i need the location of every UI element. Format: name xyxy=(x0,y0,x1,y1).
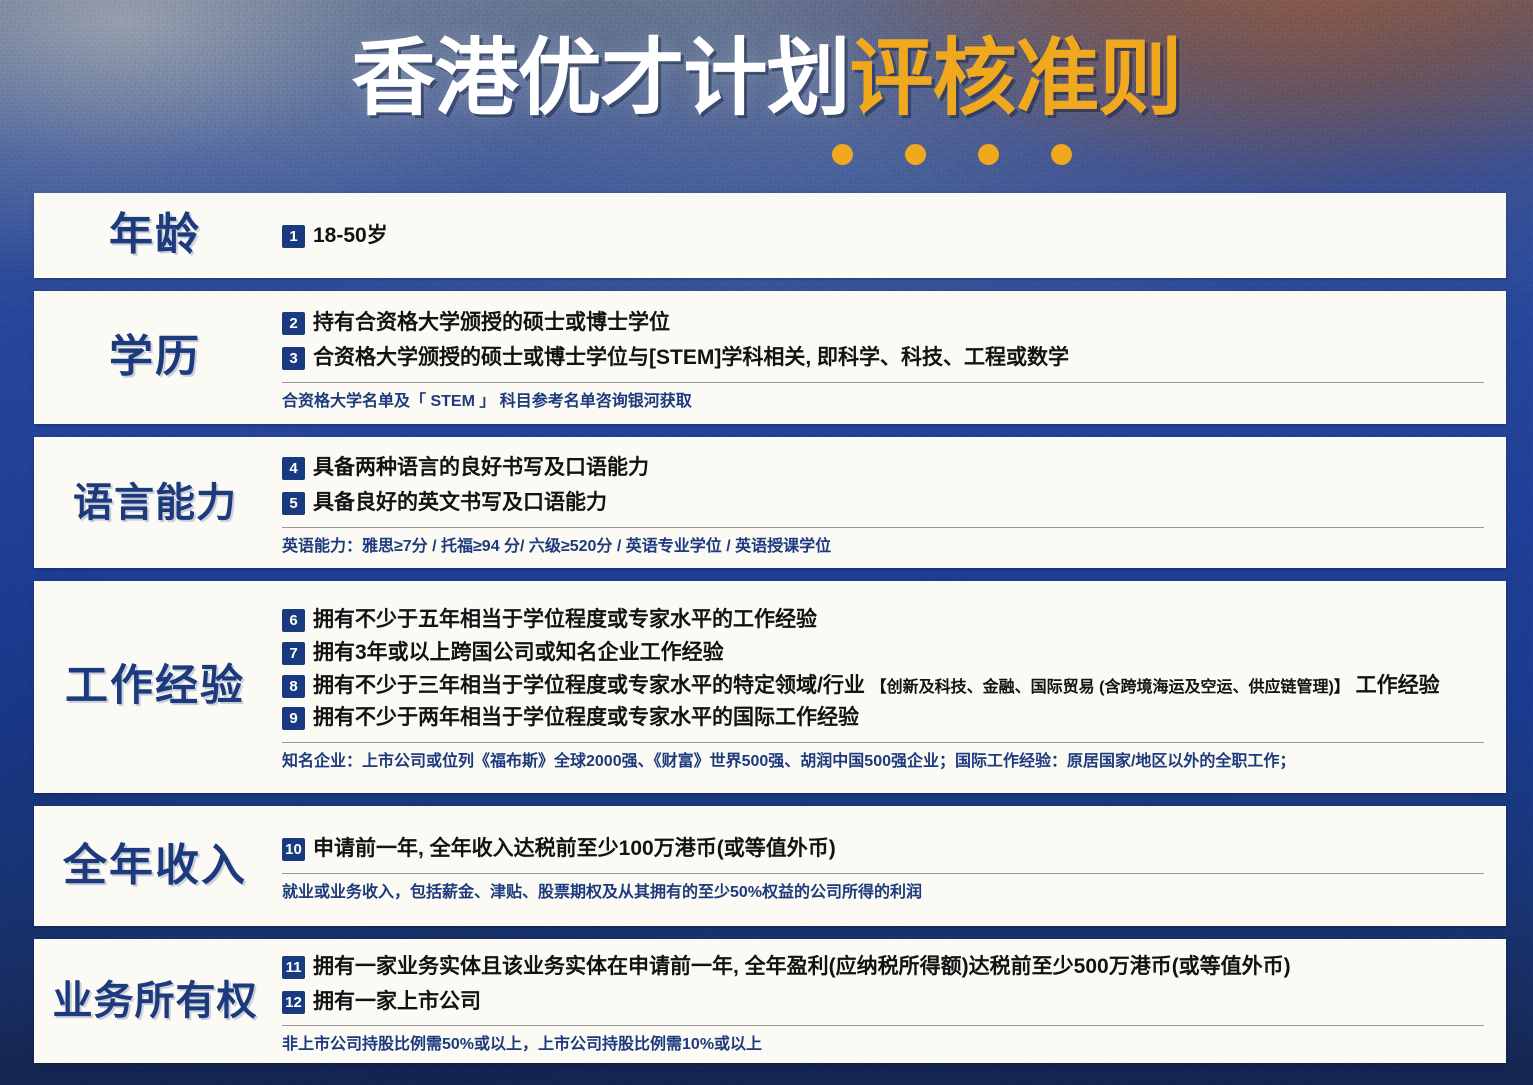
item-number-badge: 9 xyxy=(282,707,305,730)
item-text: 具备良好的英文书写及口语能力 xyxy=(313,489,1484,517)
criteria-card-annual-income: 全年收入 10 申请前一年, 全年收入达税前至少100万港币(或等值外币) 就业… xyxy=(34,806,1506,926)
gold-dot-icon xyxy=(1051,144,1072,165)
item-number-badge: 4 xyxy=(282,457,305,480)
criteria-body-annual-income: 10 申请前一年, 全年收入达税前至少100万港币(或等值外币) 就业或业务收入… xyxy=(282,816,1506,916)
criteria-item: 12 拥有一家上市公司 xyxy=(282,988,1484,1016)
criteria-list: 年龄 1 18-50岁 学历 2 持有合资格大学颁授的硕士或博士学位 3 合资格… xyxy=(34,193,1506,1076)
criteria-label-work-experience: 工作经验 xyxy=(34,664,282,709)
criteria-item: 4 具备两种语言的良好书写及口语能力 xyxy=(282,454,1484,482)
criteria-item: 9 拥有不少于两年相当于学位程度或专家水平的国际工作经验 xyxy=(282,704,1484,732)
criteria-item: 10 申请前一年, 全年收入达税前至少100万港币(或等值外币) xyxy=(282,835,1484,863)
criteria-label-language: 语言能力 xyxy=(34,482,282,524)
criteria-body-work-experience: 6 拥有不少于五年相当于学位程度或专家水平的工作经验 7 拥有3年或以上跨国公司… xyxy=(282,589,1506,785)
criteria-card-education: 学历 2 持有合资格大学颁授的硕士或博士学位 3 合资格大学颁授的硕士或博士学位… xyxy=(34,291,1506,424)
item-text-main: 拥有不少于三年相当于学位程度或专家水平的特定领域/行业 xyxy=(313,674,871,697)
criteria-item: 6 拥有不少于五年相当于学位程度或专家水平的工作经验 xyxy=(282,606,1484,634)
criteria-label-annual-income: 全年收入 xyxy=(34,843,282,889)
criteria-footnote: 非上市公司持股比例需50%或以上，上市公司持股比例需10%或以上 xyxy=(282,1026,1484,1056)
item-number-badge: 1 xyxy=(282,225,305,248)
criteria-card-age: 年龄 1 18-50岁 xyxy=(34,193,1506,278)
item-text-tail: 工作经验 xyxy=(1350,674,1440,697)
criteria-item: 11 拥有一家业务实体且该业务实体在申请前一年, 全年盈利(应纳税所得额)达税前… xyxy=(282,953,1484,981)
gold-dot-icon xyxy=(832,144,853,165)
page-title-accent: 评核准则 xyxy=(850,33,1182,126)
criteria-footnote: 知名企业：上市公司或位列《福布斯》全球2000强、《财富》世界500强、胡润中国… xyxy=(282,743,1484,773)
item-text: 申请前一年, 全年收入达税前至少100万港币(或等值外币) xyxy=(313,835,1484,863)
item-text: 拥有3年或以上跨国公司或知名企业工作经验 xyxy=(313,639,1484,667)
item-text: 拥有一家业务实体且该业务实体在申请前一年, 全年盈利(应纳税所得额)达税前至少5… xyxy=(313,953,1484,981)
criteria-card-work-experience: 工作经验 6 拥有不少于五年相当于学位程度或专家水平的工作经验 7 拥有3年或以… xyxy=(34,581,1506,793)
criteria-card-business-ownership: 业务所有权 11 拥有一家业务实体且该业务实体在申请前一年, 全年盈利(应纳税所… xyxy=(34,939,1506,1063)
item-text: 18-50岁 xyxy=(313,222,1484,250)
item-text: 合资格大学颁授的硕士或博士学位与[STEM]学科相关, 即科学、科技、工程或数学 xyxy=(313,344,1484,372)
criteria-label-age: 年龄 xyxy=(34,212,282,258)
criteria-item: 1 18-50岁 xyxy=(282,222,1484,250)
item-text: 拥有不少于三年相当于学位程度或专家水平的特定领域/行业 【创新及科技、金融、国际… xyxy=(313,672,1484,700)
page-title: 香港优才计划评核准则 xyxy=(0,38,1533,122)
item-number-badge: 3 xyxy=(282,347,305,370)
item-number-badge: 8 xyxy=(282,675,305,698)
item-text-detail: 【创新及科技、金融、国际贸易 (含跨境海运及空运、供应链管理)】 xyxy=(871,679,1350,696)
criteria-footnote: 合资格大学名单及「 STEM 」 科目参考名单咨询银河获取 xyxy=(282,383,1484,413)
item-text: 拥有不少于两年相当于学位程度或专家水平的国际工作经验 xyxy=(313,704,1484,732)
gold-dot-icon xyxy=(978,144,999,165)
item-number-badge: 10 xyxy=(282,838,305,861)
criteria-item: 5 具备良好的英文书写及口语能力 xyxy=(282,489,1484,517)
gold-dot-icon xyxy=(905,144,926,165)
criteria-body-education: 2 持有合资格大学颁授的硕士或博士学位 3 合资格大学颁授的硕士或博士学位与[S… xyxy=(282,290,1506,424)
criteria-body-age: 1 18-50岁 xyxy=(282,222,1506,250)
title-dot-row xyxy=(832,144,1072,165)
criteria-item: 3 合资格大学颁授的硕士或博士学位与[STEM]学科相关, 即科学、科技、工程或… xyxy=(282,344,1484,372)
criteria-body-language: 4 具备两种语言的良好书写及口语能力 5 具备良好的英文书写及口语能力 英语能力… xyxy=(282,435,1506,569)
item-number-badge: 7 xyxy=(282,642,305,665)
item-number-badge: 6 xyxy=(282,609,305,632)
criteria-item: 2 持有合资格大学颁授的硕士或博士学位 xyxy=(282,309,1484,337)
item-text: 具备两种语言的良好书写及口语能力 xyxy=(313,454,1484,482)
criteria-footnote: 就业或业务收入，包括薪金、津贴、股票期权及从其拥有的至少50%权益的公司所得的利… xyxy=(282,874,1484,904)
item-text: 拥有不少于五年相当于学位程度或专家水平的工作经验 xyxy=(313,606,1484,634)
page-title-primary: 香港优才计划 xyxy=(351,33,849,126)
item-number-badge: 5 xyxy=(282,492,305,515)
header: 香港优才计划评核准则 xyxy=(0,0,1533,186)
criteria-card-language: 语言能力 4 具备两种语言的良好书写及口语能力 5 具备良好的英文书写及口语能力… xyxy=(34,437,1506,568)
item-text: 拥有一家上市公司 xyxy=(313,988,1484,1016)
item-number-badge: 11 xyxy=(282,956,305,979)
item-number-badge: 12 xyxy=(282,991,305,1014)
criteria-item: 8 拥有不少于三年相当于学位程度或专家水平的特定领域/行业 【创新及科技、金融、… xyxy=(282,672,1484,700)
criteria-label-business-ownership: 业务所有权 xyxy=(34,980,282,1022)
item-number-badge: 2 xyxy=(282,312,305,335)
criteria-footnote: 英语能力：雅思≥7分 / 托福≥94 分/ 六级≥520分 / 英语专业学位 /… xyxy=(282,528,1484,558)
criteria-item: 7 拥有3年或以上跨国公司或知名企业工作经验 xyxy=(282,639,1484,667)
item-text: 持有合资格大学颁授的硕士或博士学位 xyxy=(313,309,1484,337)
criteria-label-education: 学历 xyxy=(34,334,282,380)
criteria-body-business-ownership: 11 拥有一家业务实体且该业务实体在申请前一年, 全年盈利(应纳税所得额)达税前… xyxy=(282,934,1506,1068)
